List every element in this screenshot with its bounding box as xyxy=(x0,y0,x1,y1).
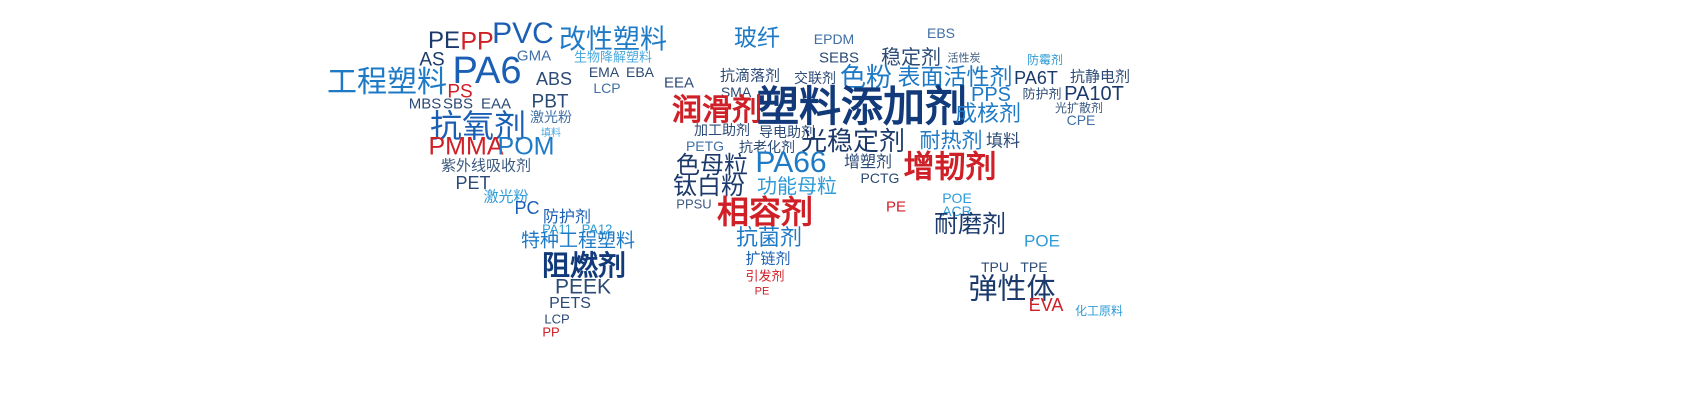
word-cloud-term[interactable]: 塑料添加剂 xyxy=(757,86,967,128)
word-cloud-term[interactable]: 润滑剂 xyxy=(672,96,762,126)
word-cloud-canvas: PEPPPVCGMAASPA6ABS工程塑料PSMBSSBSEAAPBT抗氧剂激… xyxy=(0,0,1707,400)
word-cloud-term[interactable]: EBA xyxy=(626,65,654,79)
word-cloud-term[interactable]: 生物降解塑料 xyxy=(574,52,652,65)
word-cloud-term[interactable]: PVC xyxy=(492,19,554,49)
word-cloud-term[interactable]: 抗菌剂 xyxy=(736,228,802,250)
word-cloud-term[interactable]: 工程塑料 xyxy=(327,68,447,98)
word-cloud-term[interactable]: PE xyxy=(755,287,770,298)
word-cloud-term[interactable]: CPE xyxy=(1067,113,1096,127)
word-cloud-term[interactable]: PE xyxy=(886,200,906,215)
word-cloud-term[interactable]: 防护剂 xyxy=(1022,89,1061,102)
word-cloud-term[interactable]: PA6T xyxy=(1014,69,1058,87)
word-cloud-term[interactable]: 紫外线吸收剂 xyxy=(441,159,531,174)
word-cloud-term[interactable]: 防霉剂 xyxy=(1027,54,1063,66)
word-cloud-term[interactable]: 相容剂 xyxy=(717,196,813,228)
word-cloud-term[interactable]: 成核剂 xyxy=(955,104,1021,126)
word-cloud-term[interactable]: EMA xyxy=(589,65,619,79)
word-cloud-term[interactable]: 扩链剂 xyxy=(745,252,790,267)
word-cloud-term[interactable]: 特种工程塑料 xyxy=(521,232,635,251)
word-cloud-term[interactable]: EVA xyxy=(1029,296,1064,314)
word-cloud-term[interactable]: 加工助剂 xyxy=(694,124,750,138)
word-cloud-term[interactable]: 耐热剂 xyxy=(920,131,983,152)
word-cloud-term[interactable]: 引发剂 xyxy=(745,271,784,284)
word-cloud-term[interactable]: PPSU xyxy=(676,198,711,211)
word-cloud-term[interactable]: PBT xyxy=(532,93,569,112)
word-cloud-term[interactable]: 改性塑料 xyxy=(559,27,667,54)
word-cloud-term[interactable]: 填料 xyxy=(986,134,1020,151)
word-cloud-term[interactable]: 活性炭 xyxy=(948,53,981,64)
word-cloud-term[interactable]: LCP xyxy=(593,81,620,95)
word-cloud-term[interactable]: 化工原料 xyxy=(1075,305,1123,317)
word-cloud-term[interactable]: GMA xyxy=(517,49,551,64)
word-cloud-term[interactable]: 激光粉 xyxy=(530,111,572,125)
word-cloud-term[interactable]: PCTG xyxy=(861,171,900,185)
word-cloud-term[interactable]: ABS xyxy=(536,70,572,88)
word-cloud-term[interactable]: EPDM xyxy=(814,32,854,46)
word-cloud-term[interactable]: PP xyxy=(542,326,559,339)
word-cloud-term[interactable]: EBS xyxy=(927,26,955,40)
word-cloud-term[interactable]: PC xyxy=(514,199,539,217)
word-cloud-term[interactable]: 增塑剂 xyxy=(844,154,892,170)
word-cloud-term[interactable]: EEA xyxy=(664,76,694,91)
word-cloud-term[interactable]: POE xyxy=(1024,233,1060,250)
word-cloud-term[interactable]: 耐磨剂 xyxy=(934,212,1006,236)
word-cloud-term[interactable]: 玻纤 xyxy=(734,28,780,51)
word-cloud-term[interactable]: PETS xyxy=(549,296,591,312)
word-cloud-term[interactable]: 增韧剂 xyxy=(904,153,997,184)
